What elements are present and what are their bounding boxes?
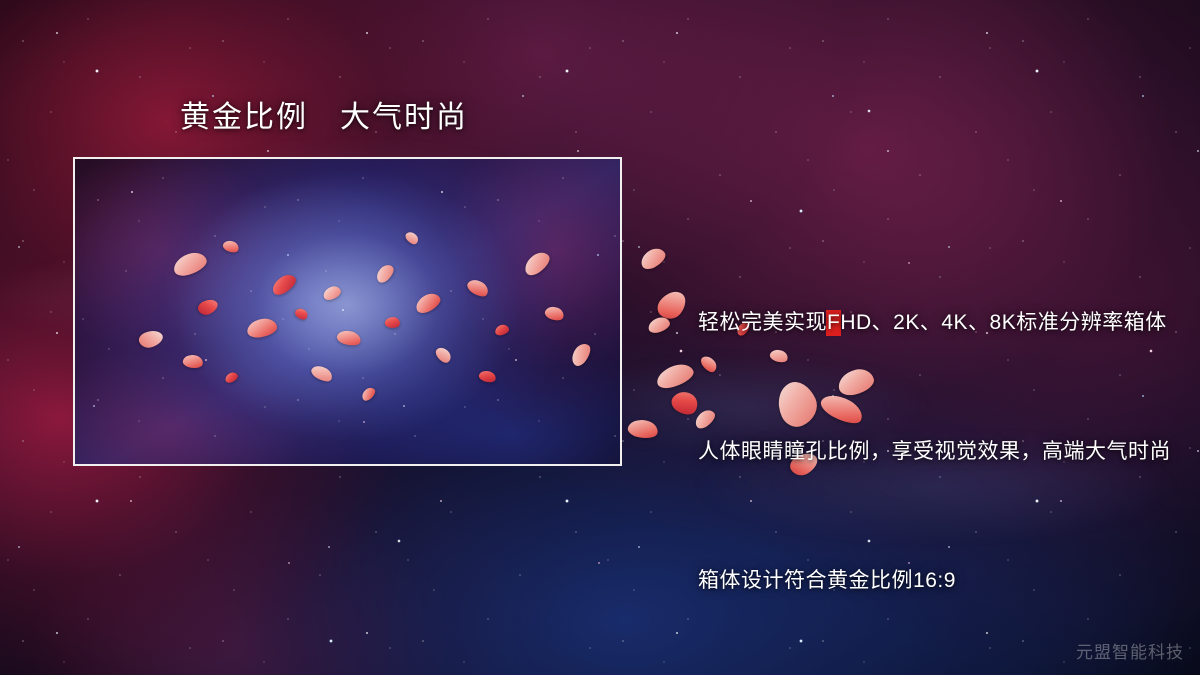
body-line-3-text: 箱体设计符合黄金比例16:9 [698,569,956,592]
body-line-3: 箱体设计符合黄金比例16:9 [660,516,1160,645]
body-line-2-text: 人体眼睛瞳孔比例，享受视觉效果，高端大气时尚 [698,440,1171,463]
slide-title: 黄金比例 大气时尚 [180,99,468,137]
rose-petal [626,417,659,441]
body-line-1-suffix: HD、2K、4K、8K标准分辨率箱体 [840,311,1166,334]
body-line-1: 轻松完美实现FHD、2K、4K、8K标准分辨率箱体 [660,258,1160,387]
body-text-block: 轻松完美实现FHD、2K、4K、8K标准分辨率箱体 人体眼睛瞳孔比例，享受视觉效… [660,258,1160,645]
framed-image [73,157,622,466]
presentation-slide: 黄金比例 大气时尚 轻松完美实现FHD、2K、4K、8K标准分辨率箱体 人体眼睛… [0,0,1200,675]
nebula-photo [75,159,620,464]
body-line-2: 人体眼睛瞳孔比例，享受视觉效果，高端大气时尚 [660,387,1160,516]
highlighted-character: F [827,310,840,336]
body-line-1-prefix: 轻松完美实现 [698,311,827,334]
watermark: 元盟智能科技 [1076,638,1184,663]
